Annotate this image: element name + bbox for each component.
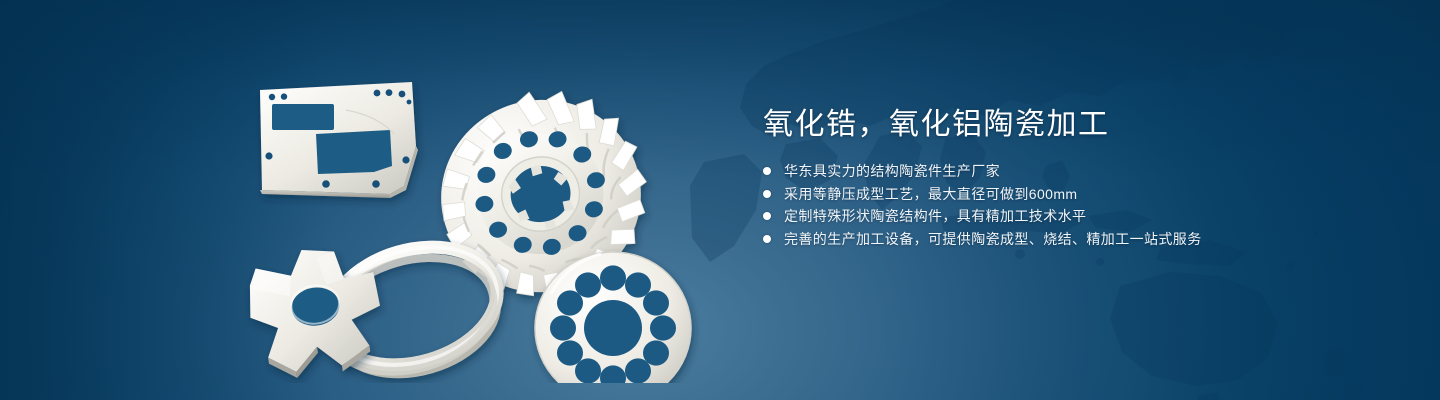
list-item-label: 完善的生产加工设备，可提供陶瓷成型、烧结、精加工一站式服务: [784, 228, 1202, 251]
hero-banner: 氧化锆，氧化铝陶瓷加工 华东具实力的结构陶瓷件生产厂家 采用等静压成型工艺，最大…: [0, 0, 1440, 400]
ceramic-machined-plate: [260, 82, 418, 198]
bullet-dot-icon: [763, 235, 771, 243]
list-item-label: 采用等静压成型工艺，最大直径可做到600mm: [784, 183, 1077, 206]
page-title: 氧化锆，氧化铝陶瓷加工: [763, 104, 1323, 146]
list-item: 华东具实力的结构陶瓷件生产厂家: [763, 160, 1323, 183]
list-item: 定制特殊形状陶瓷结构件，具有精加工技术水平: [763, 205, 1323, 228]
bullet-dot-icon: [763, 190, 771, 198]
feature-list: 华东具实力的结构陶瓷件生产厂家 采用等静压成型工艺，最大直径可做到600mm 定…: [763, 160, 1323, 250]
banner-text-panel: 氧化锆，氧化铝陶瓷加工 华东具实力的结构陶瓷件生产厂家 采用等静压成型工艺，最大…: [763, 104, 1323, 250]
list-item-label: 华东具实力的结构陶瓷件生产厂家: [784, 160, 1000, 183]
ceramic-products-image: [228, 38, 718, 383]
list-item-label: 定制特殊形状陶瓷结构件，具有精加工技术水平: [784, 205, 1086, 228]
list-item: 完善的生产加工设备，可提供陶瓷成型、烧结、精加工一站式服务: [763, 228, 1323, 251]
list-item: 采用等静压成型工艺，最大直径可做到600mm: [763, 183, 1323, 206]
bullet-dot-icon: [763, 212, 771, 220]
bullet-dot-icon: [763, 167, 771, 175]
